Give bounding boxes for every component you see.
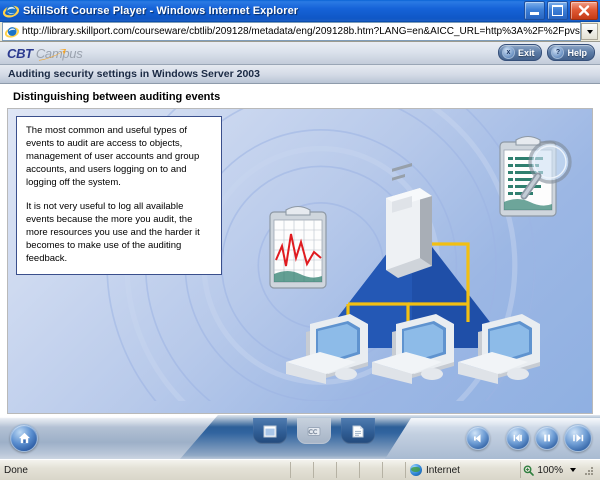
- address-field[interactable]: http://library.skillport.com/courseware/…: [2, 22, 581, 41]
- player-center-buttons: [253, 415, 375, 445]
- page-notes-button[interactable]: [341, 418, 375, 444]
- address-bar: http://library.skillport.com/courseware/…: [0, 22, 600, 41]
- closed-caption-button[interactable]: [297, 418, 331, 444]
- security-zone-label: Internet: [426, 465, 460, 476]
- course-player-header: CBT Campus x Exit ? Help: [0, 42, 600, 65]
- exit-x-icon: x: [502, 46, 515, 59]
- player-toolbar: [0, 414, 600, 459]
- status-spacer: [359, 462, 382, 478]
- page-viewport: CBT Campus x Exit ? Help Auditing securi…: [0, 41, 600, 459]
- clipboard-magnifier-icon: [500, 137, 570, 217]
- zoom-chevron-down-icon[interactable]: [570, 468, 576, 472]
- close-icon: [578, 5, 590, 16]
- previous-icon: [512, 433, 524, 443]
- course-title: Auditing security settings in Windows Se…: [8, 68, 260, 80]
- slide-text-panel: The most common and useful types of even…: [16, 116, 222, 275]
- help-question-icon: ?: [551, 46, 564, 59]
- cbt-campus-logo: CBT Campus: [7, 46, 82, 61]
- maximize-button[interactable]: [547, 1, 568, 20]
- address-dropdown-button[interactable]: [581, 23, 598, 40]
- slide-heading: Distinguishing between auditing events: [13, 91, 593, 103]
- help-button-label: Help: [567, 48, 587, 58]
- logo-primary-text: CBT: [7, 46, 33, 61]
- address-url-text: http://library.skillport.com/courseware/…: [22, 25, 580, 39]
- slide-paragraph: The most common and useful types of even…: [26, 124, 212, 189]
- exit-button[interactable]: x Exit: [498, 44, 543, 61]
- window-title: SkillSoft Course Player - Windows Intern…: [23, 5, 524, 17]
- next-icon: [571, 432, 585, 444]
- minimize-button[interactable]: [524, 1, 545, 20]
- logo-secondary-text: Campus: [36, 46, 83, 61]
- chevron-down-icon: [587, 30, 593, 34]
- status-bar: Done Internet 100%: [0, 459, 600, 480]
- header-buttons: x Exit ? Help: [498, 44, 595, 61]
- status-spacer: [290, 462, 313, 478]
- window-icon: [263, 425, 277, 438]
- status-spacer: [313, 462, 336, 478]
- workstation-icon: [286, 314, 368, 384]
- minimize-icon: [530, 12, 539, 15]
- slide-area: Distinguishing between auditing events: [0, 84, 600, 414]
- clipboard-chart-icon: [270, 207, 326, 289]
- slide-paragraph: It is not very useful to log all availab…: [26, 200, 212, 265]
- window-controls: [524, 1, 598, 20]
- resize-grip[interactable]: [582, 464, 594, 476]
- ie-page-icon: [5, 25, 19, 39]
- next-button[interactable]: [564, 424, 592, 452]
- close-button[interactable]: [570, 1, 598, 20]
- home-button[interactable]: [10, 424, 38, 452]
- pause-button[interactable]: [535, 426, 559, 450]
- ie-icon: [3, 3, 19, 19]
- server-icon: [386, 163, 432, 278]
- status-message: Done: [0, 462, 290, 478]
- back-arrow-icon: [472, 433, 484, 444]
- cc-icon: [307, 425, 321, 438]
- browser-window: SkillSoft Course Player - Windows Intern…: [0, 0, 600, 480]
- course-title-bar: Auditing security settings in Windows Se…: [0, 65, 600, 84]
- network-auditing-illustration: [262, 109, 592, 413]
- zoom-control[interactable]: 100%: [520, 462, 600, 478]
- help-button[interactable]: ? Help: [547, 44, 595, 61]
- maximize-icon: [552, 5, 563, 16]
- back-button[interactable]: [466, 426, 490, 450]
- previous-button[interactable]: [506, 426, 530, 450]
- status-spacer: [382, 462, 405, 478]
- zoom-level-label: 100%: [537, 465, 563, 476]
- exit-button-label: Exit: [518, 48, 535, 58]
- slide-canvas: The most common and useful types of even…: [7, 108, 593, 414]
- globe-icon: [410, 464, 422, 476]
- security-zone[interactable]: Internet: [405, 462, 520, 478]
- home-icon: [18, 432, 31, 444]
- player-transport-controls: [506, 424, 592, 452]
- magnifier-icon: [523, 465, 534, 476]
- text-panel-toggle-button[interactable]: [253, 418, 287, 444]
- pause-icon: [542, 433, 552, 443]
- page-icon: [351, 425, 365, 438]
- status-spacer: [336, 462, 359, 478]
- title-bar: SkillSoft Course Player - Windows Intern…: [0, 0, 600, 22]
